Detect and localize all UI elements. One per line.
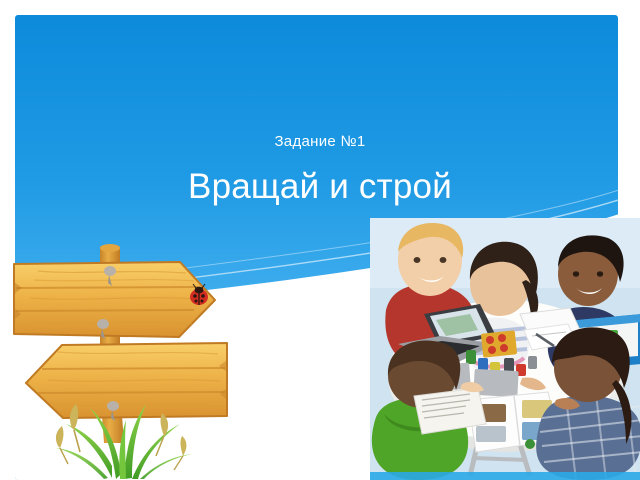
slide: Задание №1 Вращай и строй xyxy=(0,0,640,480)
wooden-signpost xyxy=(8,238,233,480)
sign-arrow-left xyxy=(26,343,227,418)
children-building-lego-photo xyxy=(370,218,640,480)
